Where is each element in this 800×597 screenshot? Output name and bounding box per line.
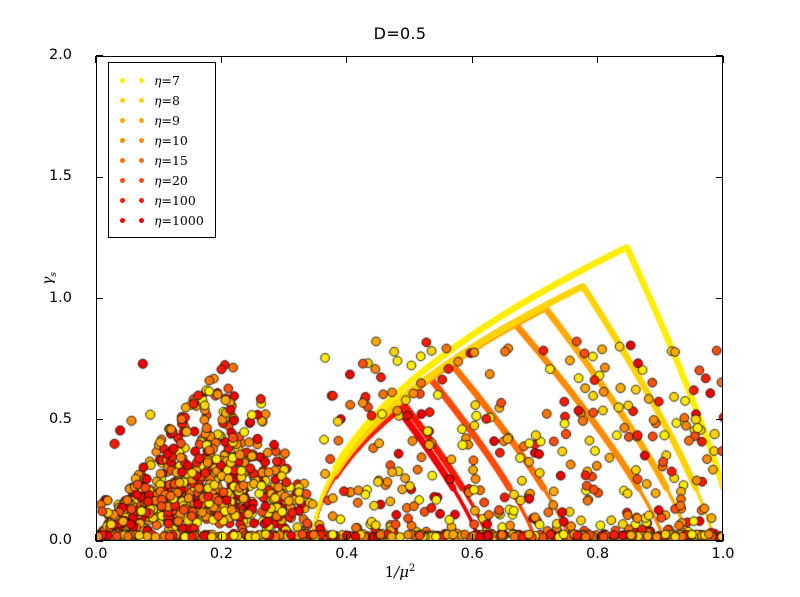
legend-marker-icon — [139, 158, 144, 163]
x-tick-mark — [95, 56, 96, 63]
x-tick-mark — [597, 534, 598, 541]
legend-marker-icon — [139, 178, 144, 183]
x-tick-label: 0.4 — [312, 546, 382, 562]
legend-label: η=7 — [154, 73, 180, 88]
y-tick-label: 0.5 — [12, 411, 72, 427]
legend-marker-icon — [120, 218, 125, 223]
y-tick-mark — [716, 298, 723, 299]
legend-item-7[interactable]: η=7 — [115, 70, 209, 90]
legend-marker-icon — [120, 178, 125, 183]
legend-marker-icon — [120, 158, 125, 163]
legend-item-15[interactable]: η=15 — [115, 150, 209, 170]
y-tick-mark — [96, 177, 103, 178]
legend-item-20[interactable]: η=20 — [115, 170, 209, 190]
x-tick-mark — [472, 534, 473, 541]
x-tick-label: 0.2 — [186, 546, 256, 562]
x-axis-label: 1/μ2 — [0, 563, 800, 581]
y-tick-mark — [96, 540, 103, 541]
legend-item-100[interactable]: η=100 — [115, 190, 209, 210]
legend-label: η=9 — [154, 113, 180, 128]
y-tick-mark — [96, 419, 103, 420]
legend-label: η=8 — [154, 93, 180, 108]
y-axis-label: γs — [40, 272, 59, 285]
legend-marker-icon — [139, 138, 144, 143]
y-tick-label: 2.0 — [12, 47, 72, 63]
legend-marker-icon — [139, 198, 144, 203]
x-tick-mark — [597, 56, 598, 63]
x-tick-mark — [722, 534, 723, 541]
x-tick-label: 1.0 — [688, 546, 758, 562]
y-tick-mark — [96, 55, 103, 56]
legend-label: η=100 — [154, 193, 196, 208]
legend-item-9[interactable]: η=9 — [115, 110, 209, 130]
y-tick-label: 1.5 — [12, 168, 72, 184]
y-tick-mark — [96, 298, 103, 299]
y-tick-mark — [716, 419, 723, 420]
x-tick-label: 0.0 — [61, 546, 131, 562]
x-tick-mark — [346, 534, 347, 541]
x-tick-mark — [221, 56, 222, 63]
legend[interactable]: η=7η=8η=9η=10η=15η=20η=100η=1000 — [108, 62, 216, 238]
legend-label: η=10 — [154, 133, 188, 148]
x-tick-mark — [346, 56, 347, 63]
figure: D=0.5 0.00.51.01.52.00.00.20.40.60.81.0 … — [0, 0, 800, 597]
legend-marker-icon — [139, 98, 144, 103]
legend-item-10[interactable]: η=10 — [115, 130, 209, 150]
legend-marker-icon — [120, 198, 125, 203]
x-tick-mark — [221, 534, 222, 541]
legend-marker-icon — [139, 218, 144, 223]
y-tick-mark — [716, 177, 723, 178]
legend-item-1000[interactable]: η=1000 — [115, 210, 209, 230]
legend-marker-icon — [139, 118, 144, 123]
legend-marker-icon — [120, 138, 125, 143]
x-tick-mark — [472, 56, 473, 63]
legend-label: η=1000 — [154, 213, 204, 228]
legend-marker-icon — [139, 78, 144, 83]
x-tick-label: 0.6 — [437, 546, 507, 562]
x-tick-mark — [95, 534, 96, 541]
legend-marker-icon — [120, 98, 125, 103]
y-tick-label: 1.0 — [12, 290, 72, 306]
legend-marker-icon — [120, 78, 125, 83]
x-tick-mark — [722, 56, 723, 63]
legend-label: η=20 — [154, 173, 188, 188]
page-title: D=0.5 — [0, 24, 800, 43]
x-tick-label: 0.8 — [563, 546, 633, 562]
legend-label: η=15 — [154, 153, 188, 168]
legend-marker-icon — [120, 118, 125, 123]
legend-item-8[interactable]: η=8 — [115, 90, 209, 110]
